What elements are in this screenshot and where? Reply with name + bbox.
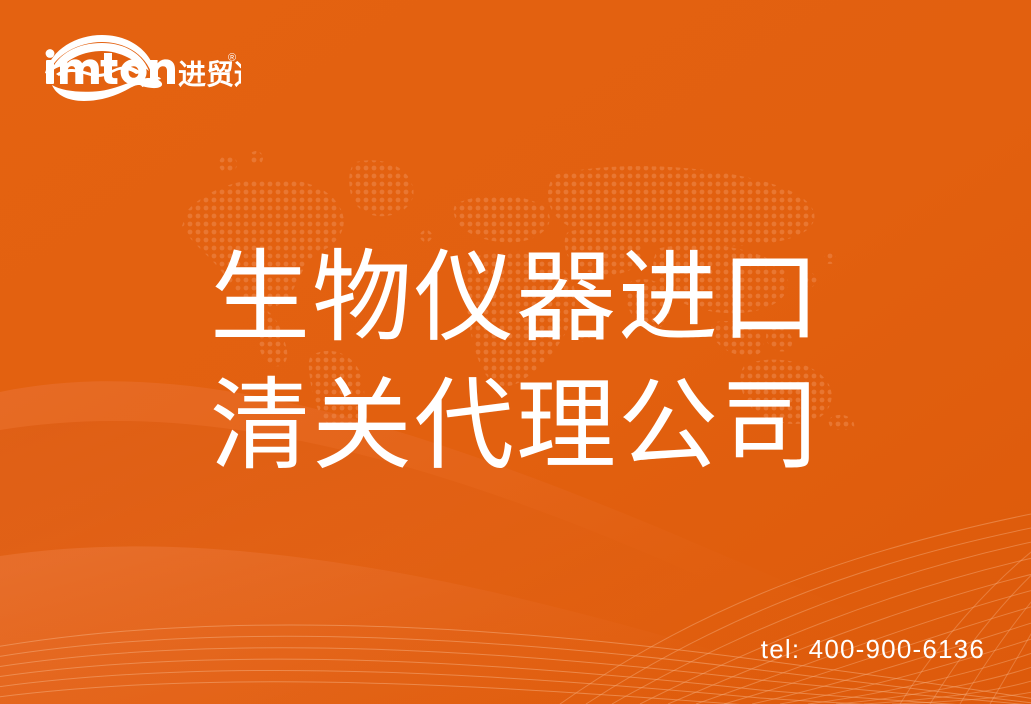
page-title: 生物仪器进口 清关代理公司 xyxy=(210,234,850,490)
contact-phone[interactable]: tel: 400-900-6136 xyxy=(761,634,985,665)
company-logo[interactable]: 进贸通 ® xyxy=(36,33,241,101)
headline-line-2: 清关代理公司 xyxy=(210,362,850,490)
headline-line-1: 生物仪器进口 xyxy=(210,234,850,362)
promo-banner: 进贸通 ® 生物仪器进口 清关代理公司 tel: 400-900-6136 xyxy=(0,0,1031,704)
registered-trademark-icon: ® xyxy=(228,52,236,64)
